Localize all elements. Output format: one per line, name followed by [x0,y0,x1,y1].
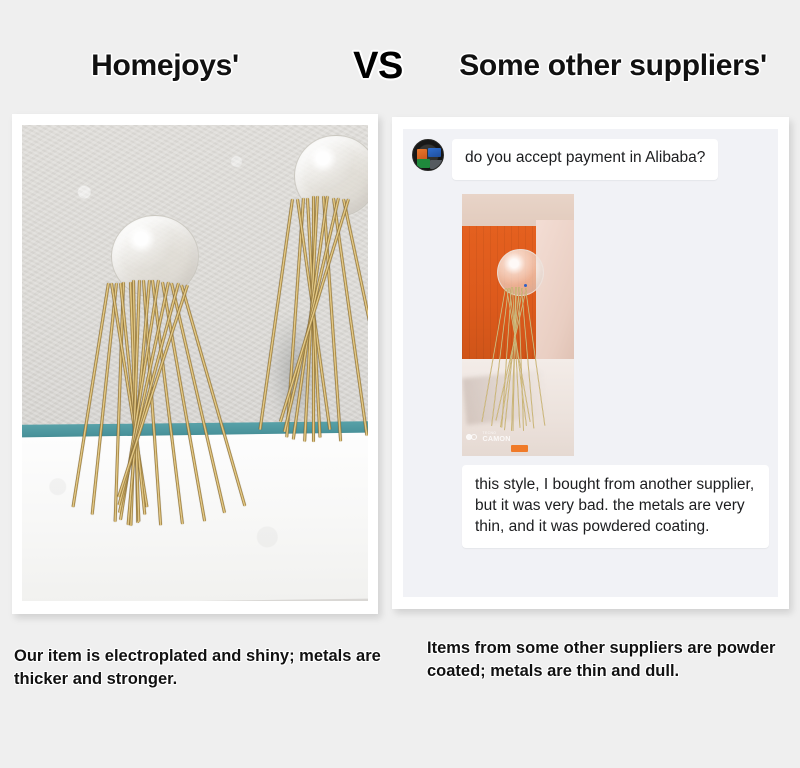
side-wall [536,220,574,367]
orange-sticker [511,445,528,452]
comparison-header: Homejoys' VS Some other suppliers' [0,38,800,94]
avatar [412,139,444,171]
sculpture-secondary [271,135,368,459]
tecno-logo-icon [466,433,479,442]
left-caption: Our item is electroplated and shiny; met… [14,645,394,692]
right-title: Some other suppliers' [426,49,800,83]
chat-conversation: do you accept payment in Alibaba? [403,129,778,597]
chat-message-1: do you accept payment in Alibaba? [403,129,778,180]
watermark-text: TECNO CAMON [482,432,510,443]
watermark-model: CAMON [482,435,510,442]
right-caption: Items from some other suppliers are powd… [427,637,787,684]
right-chat-card: do you accept payment in Alibaba? [392,117,789,609]
homejoys-product-photo [22,125,368,601]
rod [342,199,368,428]
left-photo-card [12,114,378,614]
chat-attached-photo[interactable]: TECNO CAMON [462,194,574,456]
chat-bubble-text: this style, I bought from another suppli… [462,465,769,548]
vs-label: VS [330,45,426,88]
camera-watermark: TECNO CAMON [466,432,510,443]
left-title: Homejoys' [0,49,330,83]
sculpture-main [84,215,243,539]
chat-bubble-text: do you accept payment in Alibaba? [452,139,718,180]
